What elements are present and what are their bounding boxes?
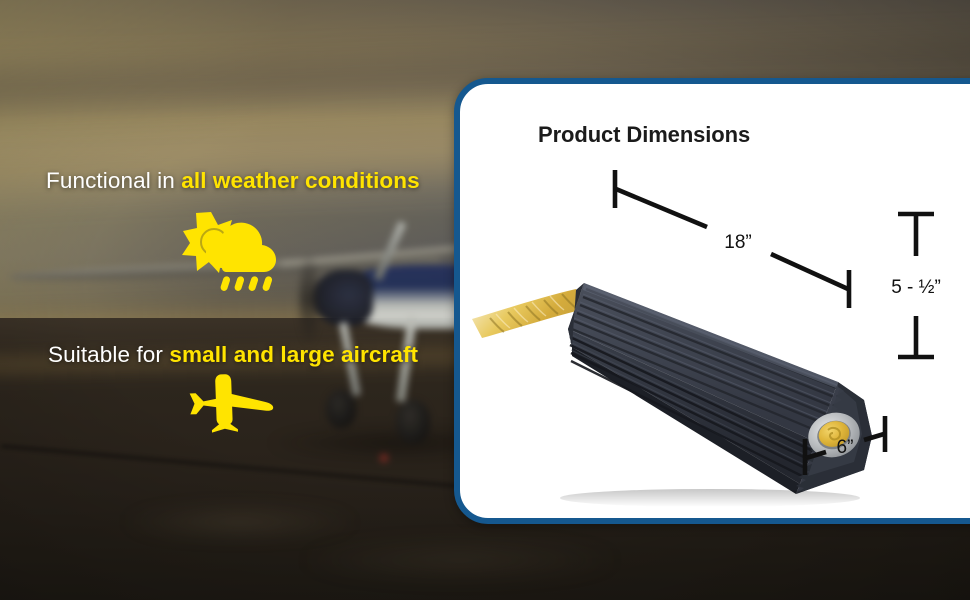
leader-width-right <box>864 434 884 440</box>
feature-prefix: Suitable for <box>48 342 169 367</box>
airplane-icon <box>185 372 277 439</box>
leader-length-left <box>616 189 707 227</box>
product-feature-banner: Functional in all weather conditions <box>0 0 970 600</box>
feature-highlight: all weather conditions <box>181 168 420 193</box>
leader-length-right <box>771 254 848 289</box>
dimension-label-height: 5 - ½” <box>891 277 941 298</box>
feature-text-aircraft-size: Suitable for small and large aircraft <box>48 342 488 368</box>
dimension-label-width: 6” <box>837 437 854 458</box>
product-illustration: 18” 5 - ½” 6” <box>460 84 970 530</box>
feature-highlight: small and large aircraft <box>169 342 418 367</box>
feature-list: Functional in all weather conditions <box>0 0 470 600</box>
product-dimensions-panel: Product Dimensions <box>454 78 970 524</box>
dimension-annotations: 18” 5 - ½” 6” <box>460 84 970 530</box>
sun-behind-rain-cloud-icon <box>180 206 284 297</box>
feature-prefix: Functional in <box>46 168 181 193</box>
leader-width-left <box>806 452 826 458</box>
dimension-label-length: 18” <box>724 232 751 253</box>
feature-text-all-weather: Functional in all weather conditions <box>46 168 486 194</box>
